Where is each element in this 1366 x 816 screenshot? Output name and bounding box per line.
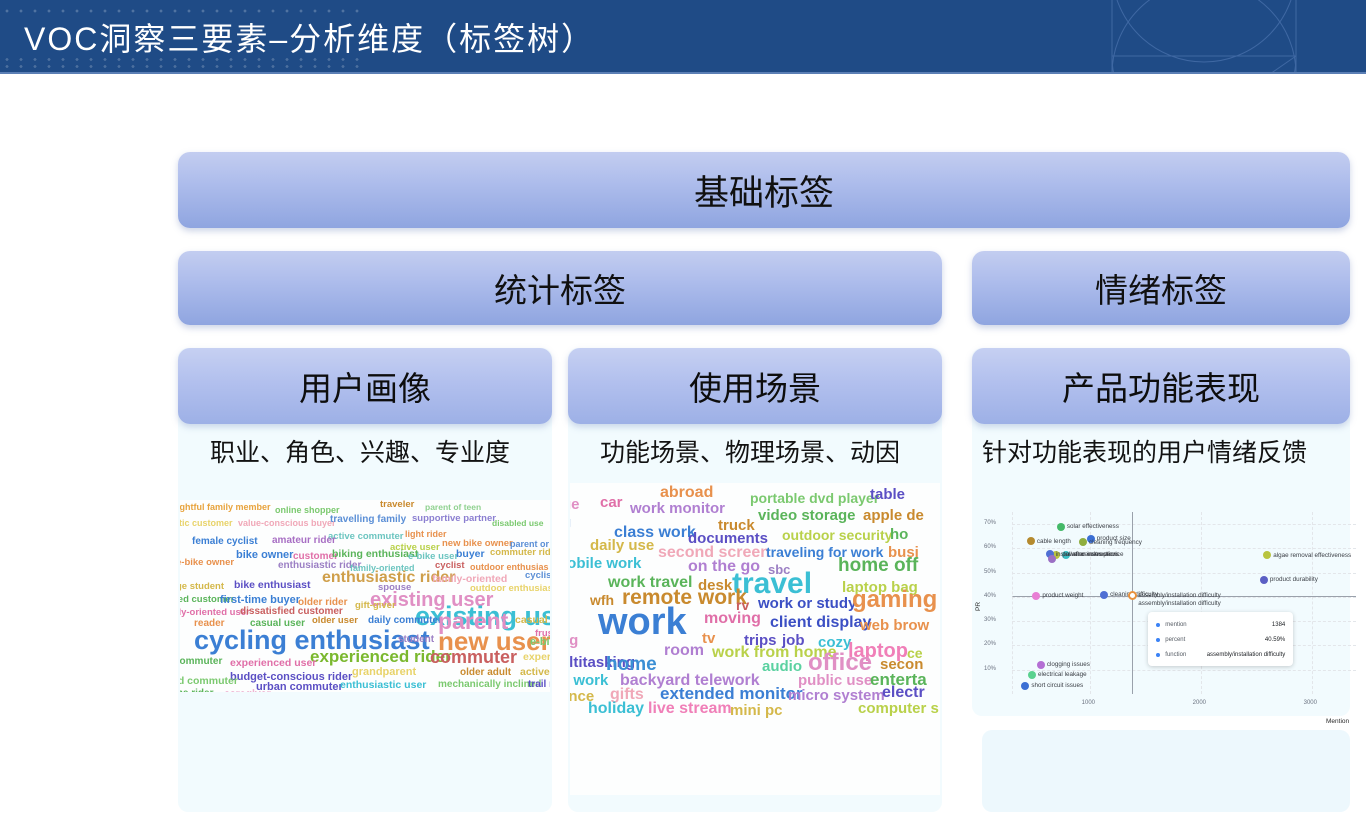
column-subtitle-usage-scenario: 功能场景、物理场景、动因 — [600, 434, 900, 468]
wordcloud-term[interactable]: work monitor — [630, 501, 725, 516]
header-geometric-decoration — [1000, 0, 1366, 74]
tooltip-key: function — [1165, 652, 1186, 658]
wordcloud-term[interactable]: web brow — [860, 618, 929, 633]
y-axis-tick-label: 70% — [984, 520, 996, 526]
scatter-point[interactable] — [1263, 551, 1271, 559]
wordcloud-term[interactable]: room — [664, 643, 704, 659]
wordcloud-term[interactable]: grandparent — [352, 667, 416, 678]
scatter-point-label: algae removal effectiveness — [1273, 552, 1351, 559]
wordcloud-term[interactable]: enthusiastic user — [340, 680, 426, 691]
wordcloud-term[interactable]: active commuter — [328, 532, 404, 542]
column-subtitle-user-persona: 职业、角色、兴趣、专业度 — [210, 434, 510, 468]
tooltip-value: assembly/installation difficulty — [1207, 652, 1286, 658]
scatter-point[interactable] — [1028, 671, 1036, 679]
wordcloud-term[interactable]: e-bike — [530, 637, 550, 648]
wordcloud-term[interactable]: me rider — [180, 689, 213, 692]
scatter-point[interactable] — [1079, 538, 1087, 546]
wordcloud-term[interactable]: computer s — [858, 701, 939, 716]
y-axis-tick-label: 40% — [984, 593, 996, 599]
wordcloud-term[interactable]: live stream — [648, 701, 732, 717]
wordcloud-term[interactable]: trail rider — [528, 680, 550, 690]
scatter-point-label: cleaning frequency — [1089, 539, 1142, 546]
scatter-point[interactable] — [1057, 523, 1065, 531]
wordcloud-term[interactable]: video storage — [758, 508, 856, 523]
product-function-scatter-chart[interactable]: 70%60%50%40%30%20%10%100020003000solar e… — [978, 502, 1366, 730]
scatter-point[interactable] — [1021, 682, 1029, 690]
wordcloud-term[interactable]: ng — [570, 633, 578, 648]
wordcloud-term[interactable]: ed commuter — [180, 676, 238, 687]
x-axis-tick-label: 2000 — [1193, 700, 1206, 706]
y-axis-title: PR — [975, 602, 982, 611]
scatter-point[interactable] — [1260, 576, 1268, 584]
wordcloud-term[interactable]: ge student — [180, 582, 224, 592]
wordcloud-term[interactable]: home off — [838, 556, 918, 575]
tag-box-base[interactable]: 基础标签 — [178, 152, 1350, 228]
wordcloud-term[interactable]: traveler — [380, 500, 414, 510]
wordcloud-term[interactable]: ughtful family member — [180, 503, 271, 512]
scatter-point-label: assembly/installation difficulty — [1138, 592, 1220, 599]
usage-scenario-wordcloud[interactable]: abroadportable dvd playertablegecarwork … — [570, 483, 940, 795]
scatter-point[interactable] — [1037, 661, 1045, 669]
column-header-product-function[interactable]: 产品功能表现 — [972, 348, 1350, 424]
wordcloud-term[interactable]: amateur rider — [272, 536, 336, 546]
wordcloud-term[interactable]: mini pc — [730, 703, 783, 718]
scatter-point[interactable] — [1032, 592, 1040, 600]
wordcloud-term[interactable]: commuter rider — [490, 548, 550, 558]
wordcloud-term[interactable]: light rider — [405, 530, 447, 539]
y-axis-tick-label: 20% — [984, 641, 996, 647]
wordcloud-term[interactable]: ge — [570, 497, 580, 512]
chart-gridline — [1312, 512, 1313, 694]
wordcloud-term[interactable]: parent of teen — [425, 503, 481, 512]
wordcloud-term[interactable]: nobile work — [570, 556, 641, 571]
wordcloud-term[interactable]: electr — [882, 685, 925, 701]
wordcloud-term[interactable]: work — [598, 603, 687, 641]
scatter-point-label: short circuit issues — [1031, 682, 1083, 689]
column-subtitle-product-function: 针对功能表现的用户情绪反馈 — [982, 434, 1307, 468]
wordcloud-term[interactable]: cyclist — [525, 571, 550, 581]
wordcloud-term[interactable]: car — [600, 495, 623, 510]
wordcloud-term[interactable]: abroad — [660, 485, 713, 501]
tooltip-key: percent — [1165, 637, 1185, 643]
tooltip-bullet-icon — [1156, 623, 1160, 627]
wordcloud-term[interactable]: commuter — [180, 657, 222, 667]
y-axis-tick-label: 50% — [984, 569, 996, 575]
wordcloud-term[interactable]: public use — [798, 673, 872, 688]
wordcloud-term[interactable]: daily use — [590, 538, 654, 553]
y-axis-tick-label: 60% — [984, 544, 996, 550]
tooltip-row: functionassembly/installation difficulty — [1156, 648, 1285, 663]
x-axis-title: Mention — [1326, 718, 1349, 725]
scatter-point-label: product durability — [1270, 576, 1318, 583]
wordcloud-term[interactable]: apple de — [863, 508, 924, 523]
tooltip-bullet-icon — [1156, 638, 1160, 642]
scatter-point-label: product weight — [1042, 592, 1083, 599]
y-axis-tick-label: 10% — [984, 666, 996, 672]
tooltip-value: 1384 — [1272, 622, 1285, 628]
x-axis-tick-label: 3000 — [1304, 700, 1317, 706]
wordcloud-term[interactable]: student — [398, 635, 434, 645]
scatter-point-label: clogging issues — [1047, 661, 1090, 668]
scatter-point[interactable] — [1100, 591, 1108, 599]
wordcloud-term[interactable]: buyer — [456, 549, 485, 560]
y-axis-tick-label: 30% — [984, 617, 996, 623]
wordcloud-term[interactable]: n work — [570, 673, 608, 688]
tag-box-statistical[interactable]: 统计标签 — [178, 251, 942, 325]
tooltip-row: percent40.59% — [1156, 633, 1285, 648]
wordcloud-term[interactable]: table — [870, 487, 905, 502]
wordcloud-term[interactable]: mechanically inclined — [438, 680, 541, 690]
tag-box-emotional[interactable]: 情绪标签 — [972, 251, 1350, 325]
scatter-point-label: electrical leakage — [1038, 671, 1087, 678]
page-header: VOC洞察三要素–分析维度（标签树） — [0, 0, 1366, 74]
wordcloud-term[interactable]: ho — [890, 527, 908, 542]
wordcloud-term[interactable]: female cyclist — [192, 537, 258, 547]
x-axis-tick-label: 1000 — [1082, 700, 1095, 706]
wordcloud-term[interactable]: bike enthusiast — [234, 580, 310, 591]
wordcloud-term[interactable]: biking enthusiast — [332, 549, 418, 560]
scatter-point-label: solar effectiveness — [1067, 523, 1119, 530]
tooltip-bullet-icon — [1156, 653, 1160, 657]
column-panel-product-function-lower — [982, 730, 1350, 812]
wordcloud-term[interactable]: travelling family — [330, 515, 406, 525]
wordcloud-term[interactable]: disabled use — [492, 519, 544, 528]
wordcloud-term[interactable]: portable dvd player — [750, 491, 879, 505]
tooltip-row: mention1384 — [1156, 618, 1285, 633]
wordcloud-term[interactable]: first-time buyer — [220, 595, 300, 606]
wordcloud-term[interactable]: client display — [770, 615, 871, 631]
wordcloud-term[interactable]: work or study — [758, 596, 856, 611]
tooltip-value: 40.59% — [1265, 637, 1285, 643]
scatter-point[interactable] — [1027, 537, 1035, 545]
chart-gridline — [1012, 573, 1356, 574]
tooltip-key: mention — [1165, 622, 1186, 628]
wordcloud-term[interactable]: value-conscious buyer — [238, 519, 336, 528]
chart-gridline — [1012, 548, 1356, 549]
scatter-point-label: installation instructions — [1056, 551, 1119, 558]
wordcloud-term[interactable]: e-bike owner — [180, 558, 234, 568]
scatter-point[interactable] — [1048, 555, 1056, 563]
chart-y-axis-line — [1012, 512, 1013, 694]
wordcloud-term[interactable]: experienced user — [230, 658, 316, 669]
wordcloud-term[interactable]: audio — [762, 659, 802, 674]
wordcloud-term[interactable]: g — [570, 515, 571, 530]
wordcloud-term[interactable]: supportive partner — [412, 514, 496, 524]
scatter-point-label: cable length — [1037, 538, 1071, 545]
page-title: VOC洞察三要素–分析维度（标签树） — [24, 0, 595, 74]
wordcloud-term[interactable]: gaming — [852, 588, 937, 612]
wordcloud-term[interactable]: older adult — [460, 668, 511, 678]
wordcloud-term[interactable]: commuter — [430, 648, 517, 666]
wordcloud-term[interactable]: holiday — [588, 701, 644, 717]
user-persona-wordcloud[interactable]: ughtful family memberonline shoppertrave… — [180, 500, 550, 692]
wordcloud-term[interactable]: caregiver — [224, 689, 271, 692]
wordcloud-term[interactable]: stic customer — [180, 519, 233, 528]
wordcloud-term[interactable]: outdoor security — [782, 528, 892, 542]
wordcloud-term[interactable]: active rider — [520, 667, 550, 678]
header-underline — [0, 72, 1366, 74]
wordcloud-term[interactable]: moving — [704, 611, 761, 627]
wordcloud-term[interactable]: casual rider — [515, 615, 550, 626]
chart-tooltip: mention1384percent40.59%functionassembly… — [1148, 612, 1293, 666]
wordcloud-term[interactable]: gift-giver — [355, 601, 396, 611]
wordcloud-term[interactable]: experienced — [523, 652, 550, 663]
column-header-user-persona[interactable]: 用户画像 — [178, 348, 552, 424]
column-header-usage-scenario[interactable]: 使用场景 — [568, 348, 942, 424]
tooltip-anchor-label: assembly/installation difficulty — [1138, 600, 1220, 607]
scatter-point[interactable] — [1128, 591, 1137, 600]
